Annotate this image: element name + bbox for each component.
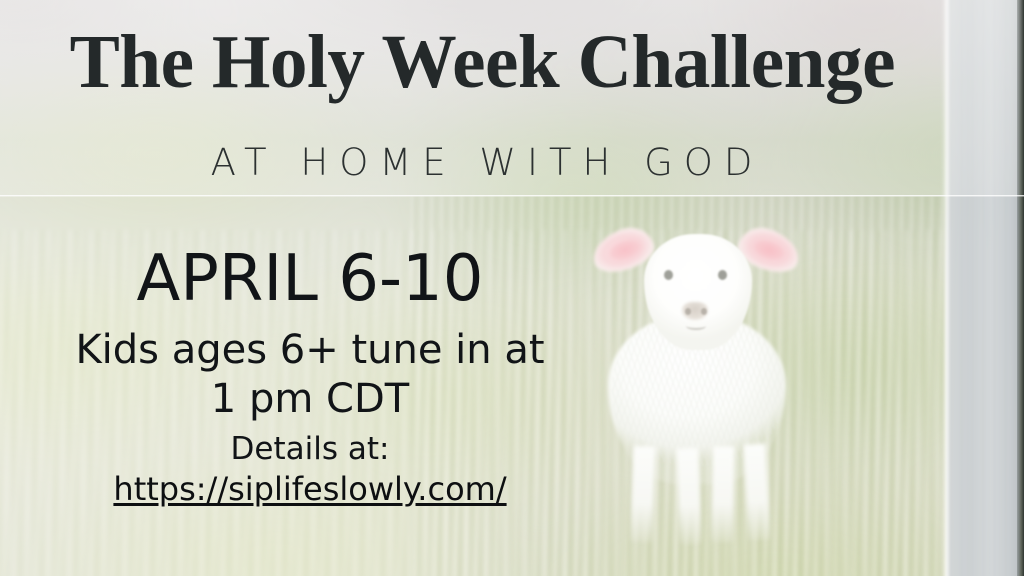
lamb-nostril-right <box>701 308 707 315</box>
lamb-leg <box>676 448 701 545</box>
page-subtitle: AT HOME WITH GOD <box>0 141 1024 184</box>
horizontal-divider <box>0 195 1024 196</box>
event-time: 1 pm CDT <box>0 374 620 424</box>
page-title: The Holy Week Challenge <box>5 24 1019 100</box>
lamb-leg <box>711 446 735 542</box>
website-url-link[interactable]: https://siplifeslowly.com/ <box>0 469 620 511</box>
event-info-block: APRIL 6-10 Kids ages 6+ tune in at 1 pm … <box>0 246 620 511</box>
event-date: APRIL 6-10 <box>0 246 620 313</box>
event-audience: Kids ages 6+ tune in at <box>0 327 620 374</box>
lamb-eye-left <box>664 270 673 280</box>
lamb-nostril-left <box>685 308 691 315</box>
lamb-eye-right <box>718 270 727 280</box>
lamb-head <box>644 234 752 350</box>
holy-week-challenge-poster: The Holy Week Challenge AT HOME WITH GOD… <box>0 0 1024 576</box>
lamb-leg <box>630 446 655 543</box>
lamb-photo-subject <box>586 196 816 496</box>
lamb-mouth <box>686 322 706 330</box>
details-label: Details at: <box>0 430 620 469</box>
lamb-leg <box>744 443 771 540</box>
